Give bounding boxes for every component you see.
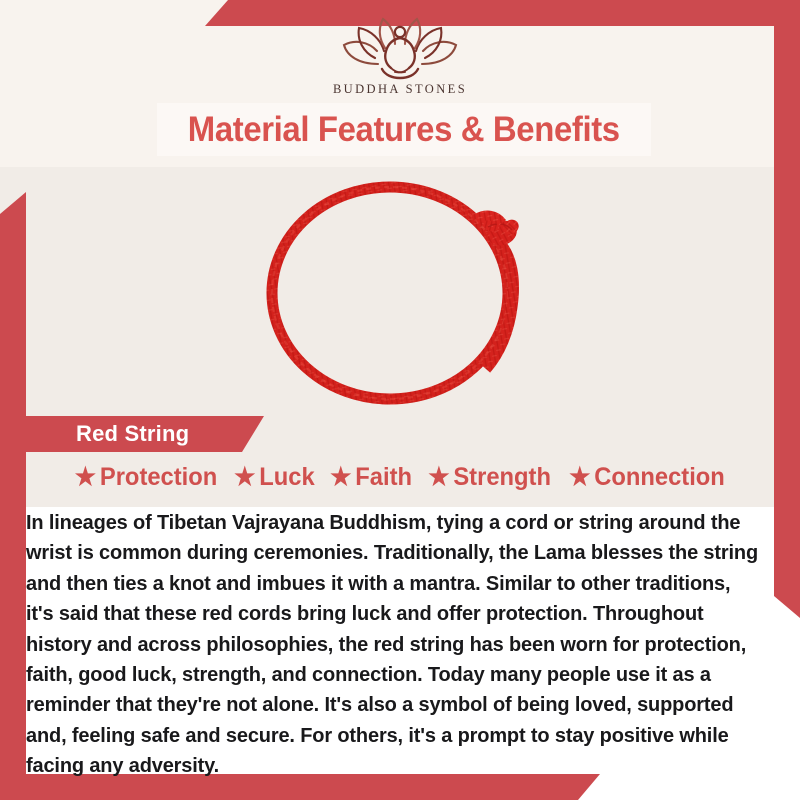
red-braided-bracelet-illustration <box>240 167 560 417</box>
feature-label: Protection <box>100 463 217 492</box>
feature-label: Faith <box>355 463 412 492</box>
page-title: Material Features & Benefits <box>188 110 620 150</box>
brand-logo: BUDDHA STONES <box>0 14 800 97</box>
brand-name: BUDDHA STONES <box>333 82 467 97</box>
product-image <box>0 167 800 417</box>
feature-label: Connection <box>594 463 725 492</box>
feature-item-protection: ★ Protection <box>71 463 221 492</box>
star-icon: ★ <box>234 465 255 490</box>
feature-list: ★ Protection ★ Luck ★ Faith ★ Strength ★… <box>26 463 774 492</box>
feature-item-connection: ★ Connection <box>565 463 728 492</box>
feature-item-strength: ★ Strength <box>424 463 554 492</box>
material-description: In lineages of Tibetan Vajrayana Buddhis… <box>26 508 763 782</box>
product-feature-poster: BUDDHA STONES Material Features & Benefi… <box>0 0 800 800</box>
feature-label: Luck <box>259 463 314 492</box>
material-label: Red String <box>76 421 189 447</box>
star-icon: ★ <box>330 465 351 490</box>
star-icon: ★ <box>428 465 449 490</box>
star-icon: ★ <box>569 465 590 490</box>
lotus-meditation-figure-icon <box>335 14 465 80</box>
material-label-banner: Red String <box>26 416 264 452</box>
feature-label: Strength <box>453 463 551 492</box>
feature-item-faith: ★ Faith <box>326 463 415 492</box>
star-icon: ★ <box>75 465 96 490</box>
feature-item-luck: ★ Luck <box>230 463 318 492</box>
title-banner: Material Features & Benefits <box>157 103 651 156</box>
